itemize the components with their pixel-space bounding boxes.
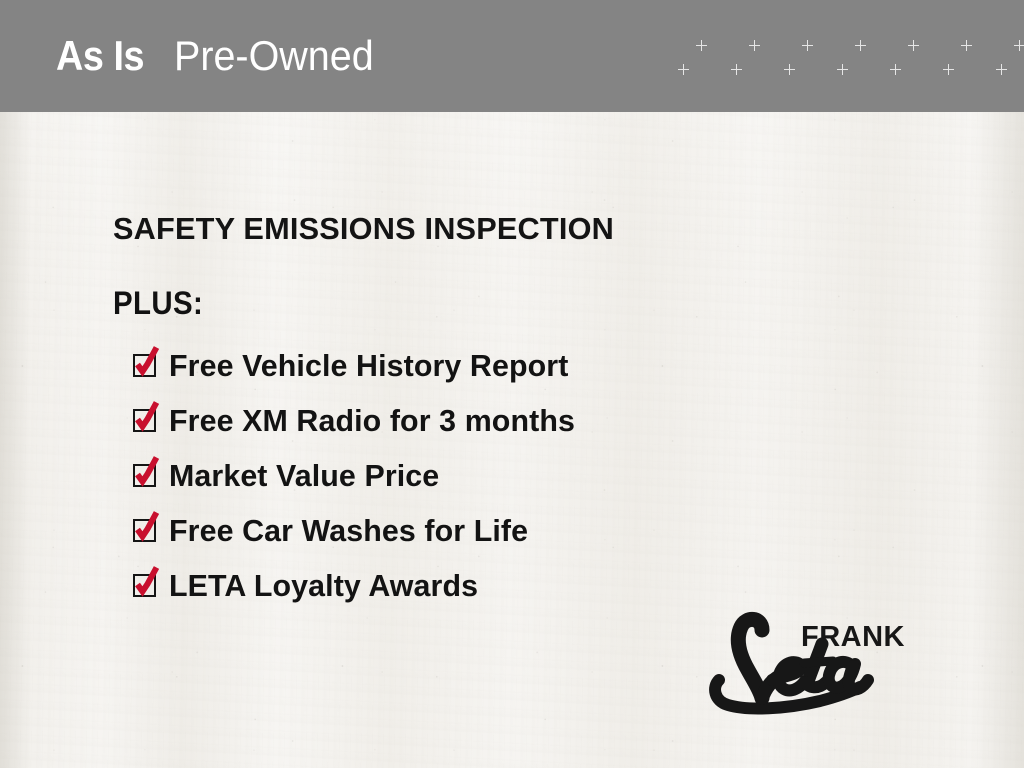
checkbox-checked-icon <box>133 354 158 379</box>
checkbox-checked-icon <box>133 574 158 599</box>
list-item: Free XM Radio for 3 months <box>133 393 753 448</box>
list-item-label: LETA Loyalty Awards <box>169 570 478 601</box>
section-subheading: PLUS: <box>113 285 203 322</box>
slide-canvas: As Is Pre-Owned <box>0 0 1024 768</box>
list-item-label: Market Value Price <box>169 460 439 491</box>
checkbox-checked-icon <box>133 519 158 544</box>
frank-leta-logo: FRANK <box>700 608 915 720</box>
list-item-label: Free XM Radio for 3 months <box>169 405 575 436</box>
benefits-checklist: Free Vehicle History Report Free XM Radi… <box>133 338 753 613</box>
checkbox-checked-icon <box>133 464 158 489</box>
checkbox-checked-icon <box>133 409 158 434</box>
section-heading: SAFETY EMISSIONS INSPECTION <box>113 211 614 247</box>
list-item: Market Value Price <box>133 448 753 503</box>
slide-body: SAFETY EMISSIONS INSPECTION PLUS: Free V… <box>0 0 1024 768</box>
list-item: Free Vehicle History Report <box>133 338 753 393</box>
list-item: LETA Loyalty Awards <box>133 558 753 613</box>
list-item: Free Car Washes for Life <box>133 503 753 558</box>
list-item-label: Free Vehicle History Report <box>169 350 568 381</box>
list-item-label: Free Car Washes for Life <box>169 515 528 546</box>
